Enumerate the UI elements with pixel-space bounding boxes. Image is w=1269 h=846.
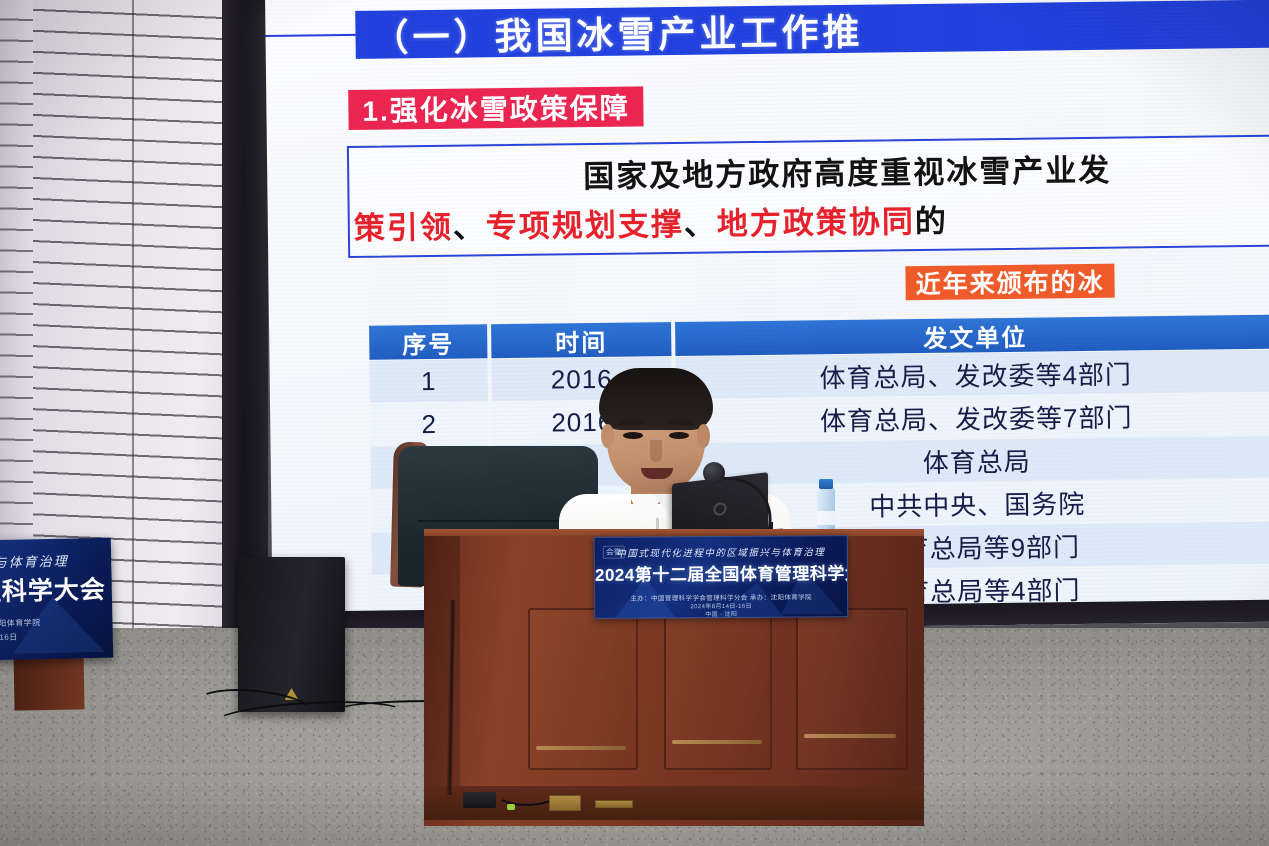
person-ear-right [697, 424, 710, 448]
microphone-capsule-icon [703, 462, 725, 484]
banner-location: 中国 · 沈阳 [595, 608, 847, 619]
person-eye-left [623, 432, 643, 439]
slide-callout-text: 近年来颁布的冰 [915, 263, 1104, 301]
cable-tag-icon [507, 804, 515, 810]
statement-emphasis-a: 策引领 [354, 210, 453, 246]
statement-emphasis-c: 地方政策协同 [717, 204, 915, 241]
statement-tail: 的 [915, 204, 948, 239]
conference-photo-scene: （一）我国冰雪产业工作推 1.强化冰雪政策保障 国家及地方政府高度重视冰雪产业发… [0, 0, 1269, 846]
left-conference-banner: 区域振兴与体育治理 体育管理科学大会 承办：沈阳体育学院 月·16日 [0, 538, 113, 663]
left-banner-title: 体育管理科学大会 [0, 570, 112, 611]
floor-outlet-plate [595, 800, 633, 808]
table-header-cell-2: 发文单位 [675, 315, 1269, 356]
person-eye-right [669, 432, 689, 439]
wall-seam [132, 0, 134, 700]
power-adapter [463, 792, 496, 808]
statement-sep-a: 、 [453, 209, 486, 244]
slide-title-bar: （一）我国冰雪产业工作推 [355, 0, 1269, 59]
podium-trim [672, 740, 762, 744]
title-rule [266, 34, 366, 37]
table-header-cell-0: 序号 [369, 324, 487, 359]
slide-title-text: （一）我国冰雪产业工作推 [355, 2, 864, 62]
slide-section-label: 1.强化冰雪政策保障 [348, 86, 644, 130]
banner-main-title: 2024第十二届全国体育管理科学大会 [595, 559, 847, 586]
podium-trim [536, 746, 626, 750]
person-hair [599, 368, 713, 430]
person-ear-left [601, 424, 614, 448]
podium-panel [796, 608, 908, 770]
person-nose [650, 440, 662, 462]
statement-emphasis-b: 专项规划支撑 [486, 207, 684, 244]
table-cell-no: 1 [369, 359, 488, 402]
statement-line-1: 国家及地方政府高度重视冰雪产业发 [349, 142, 1269, 199]
podium-trim [804, 734, 896, 738]
table-cell-no: 2 [370, 402, 489, 445]
slide-statement-box: 国家及地方政府高度重视冰雪产业发 策引领、专项规划支撑、地方政策协同的 [347, 134, 1269, 258]
table-header-cell-1: 时间 [491, 322, 671, 358]
water-bottle-label [817, 511, 835, 525]
slide-section-label-text: 1.强化冰雪政策保障 [362, 87, 630, 130]
statement-line-2: 策引领、专项规划支撑、地方政策协同的 [354, 196, 949, 248]
podium-conference-banner: 会徽 中国式现代化进程中的区域振兴与体育治理 2024第十二届全国体育管理科学大… [594, 535, 849, 619]
water-bottle-cap [819, 479, 833, 489]
statement-sep-b: 、 [684, 206, 717, 241]
podium-left-side [424, 536, 460, 818]
floor-outlet-plate [549, 795, 581, 811]
podium-panel [664, 608, 772, 770]
slide-callout-box: 近年来颁布的冰 [905, 264, 1114, 301]
banner-calligraphy-line: 中国式现代化进程中的区域振兴与体育治理 [595, 544, 847, 560]
